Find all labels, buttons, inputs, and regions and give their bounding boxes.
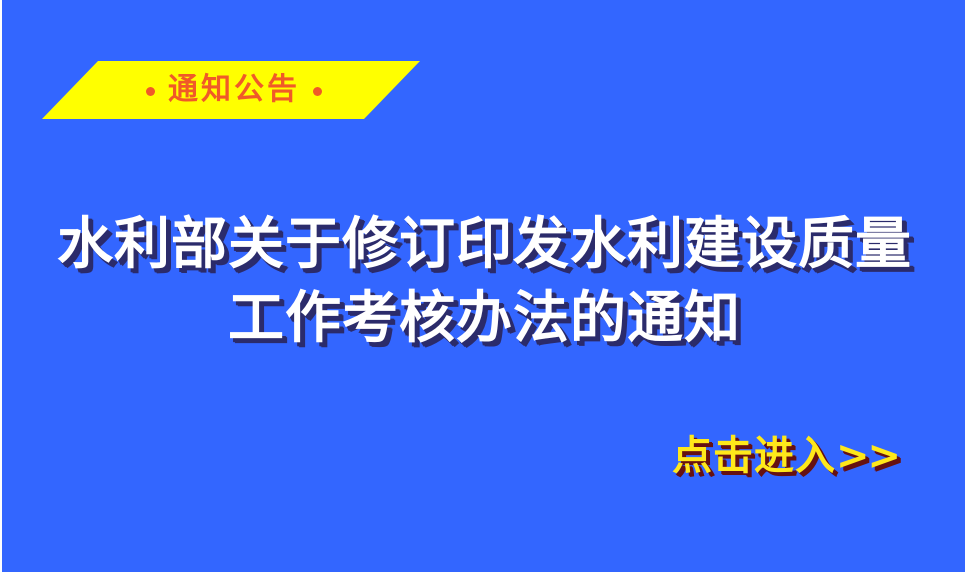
ribbon-content: 通知公告 (42, 61, 420, 119)
notice-promo-card: 通知公告 水利部关于修订印发水利建设质量 工作考核办法的通知 点击进入>> (0, 0, 965, 575)
enter-link[interactable]: 点击进入>> (672, 432, 899, 480)
cta-container: 点击进入>> (2, 432, 965, 480)
bullet-dot-icon-left (146, 87, 155, 96)
bullet-dot-icon-right (313, 87, 322, 96)
notice-headline: 水利部关于修订印发水利建设质量 工作考核办法的通知 (2, 208, 965, 356)
section-ribbon: 通知公告 (42, 61, 420, 119)
ribbon-title-label: 通知公告 (168, 75, 300, 105)
cta-label: 点击进入 (672, 433, 836, 479)
headline-line-2: 工作考核办法的通知 (2, 282, 965, 356)
double-chevron-right-icon: >> (836, 433, 899, 479)
headline-line-1: 水利部关于修订印发水利建设质量 (2, 208, 965, 282)
